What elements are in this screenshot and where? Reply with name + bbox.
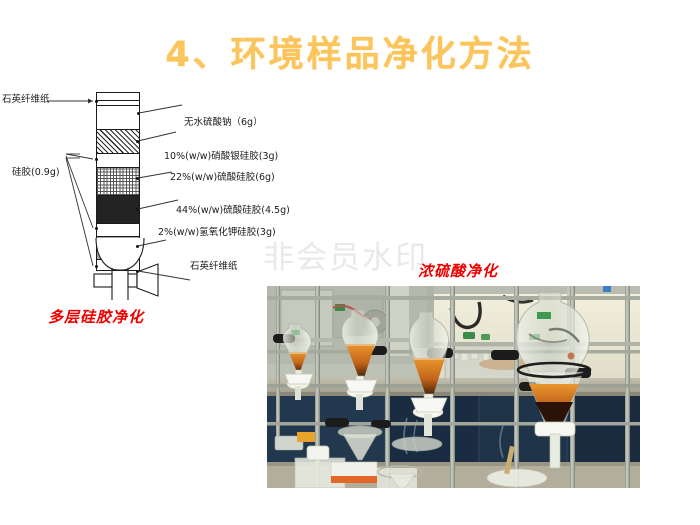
caption-multilayer-silica-cleanup: 多层硅胶净化	[48, 306, 144, 327]
photo-canvas	[267, 286, 640, 488]
label-quartz-fiber-paper-bottom: 石英纤维纸	[190, 262, 238, 272]
page-title: 4、环境样品净化方法	[0, 26, 700, 77]
label-sulfuric-acid-silica-44: 44%(w/w)硫酸硅胶(4.5g)	[176, 206, 290, 216]
caption-concentrated-sulfuric-cleanup: 浓硫酸净化	[418, 260, 498, 281]
label-anhydrous-sodium-sulfate: 无水硫酸钠（6g）	[184, 118, 263, 128]
label-potassium-hydroxide-silica: 2%(w/w)氢氧化钾硅胶(3g)	[158, 228, 276, 238]
label-silica-gel: 硅胶(0.9g)	[12, 168, 60, 178]
watermark-text: 非会员水印	[263, 232, 428, 277]
lab-separatory-funnels-photo	[267, 286, 640, 488]
label-sulfuric-acid-silica-22: 22%(w/w)硫酸硅胶(6g)	[170, 173, 275, 183]
label-silver-nitrate-silica: 10%(w/w)硝酸银硅胶(3g)	[164, 152, 278, 162]
label-quartz-fiber-paper-top: 石英纤维纸	[2, 95, 50, 105]
